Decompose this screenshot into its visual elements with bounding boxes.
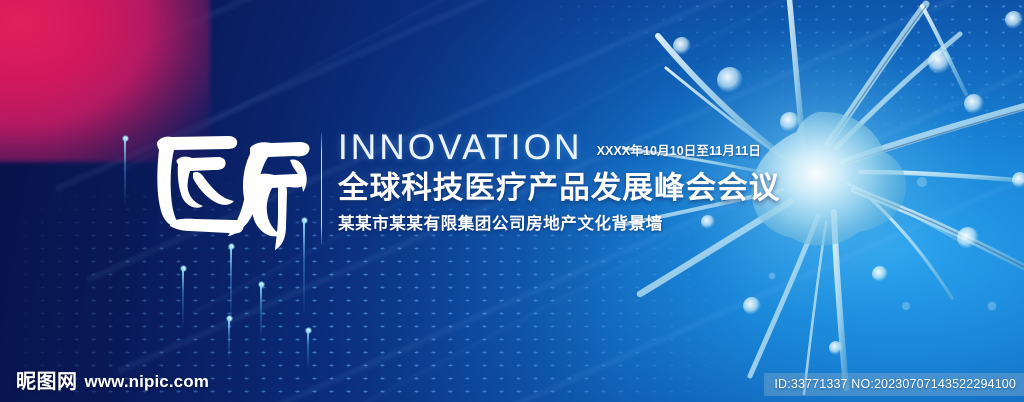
title-divider bbox=[321, 133, 322, 244]
calligraphy-title bbox=[150, 126, 315, 251]
light-beam bbox=[228, 318, 230, 362]
watermark: 昵图网 www.nipic.com bbox=[16, 370, 209, 394]
poster-canvas: INNOVATION XXXX年10月10日至11月11日 全球科技医疗产品发展… bbox=[0, 0, 1024, 402]
event-date: XXXX年10月10日至11月11日 bbox=[597, 143, 761, 159]
light-beam bbox=[230, 246, 232, 326]
light-beam bbox=[182, 268, 184, 330]
title-text-column: INNOVATION XXXX年10月10日至11月11日 全球科技医疗产品发展… bbox=[338, 128, 780, 235]
main-title: 全球科技医疗产品发展峰会会议 bbox=[338, 170, 780, 206]
headline-block: INNOVATION XXXX年10月10日至11月11日 全球科技医疗产品发展… bbox=[150, 126, 315, 251]
image-id-label: ID:33771337 NO:20230707143522294100 bbox=[764, 373, 1024, 396]
watermark-logo: 昵图网 bbox=[16, 370, 78, 394]
light-beam bbox=[307, 330, 309, 370]
sub-title: 某某市某某有限集团公司房地产文化背景墙 bbox=[338, 213, 780, 235]
english-title-row: INNOVATION XXXX年10月10日至11月11日 bbox=[338, 128, 780, 168]
light-beam bbox=[260, 284, 262, 342]
english-title: INNOVATION bbox=[338, 128, 583, 168]
light-beam bbox=[124, 138, 126, 208]
watermark-url: www.nipic.com bbox=[85, 371, 209, 393]
